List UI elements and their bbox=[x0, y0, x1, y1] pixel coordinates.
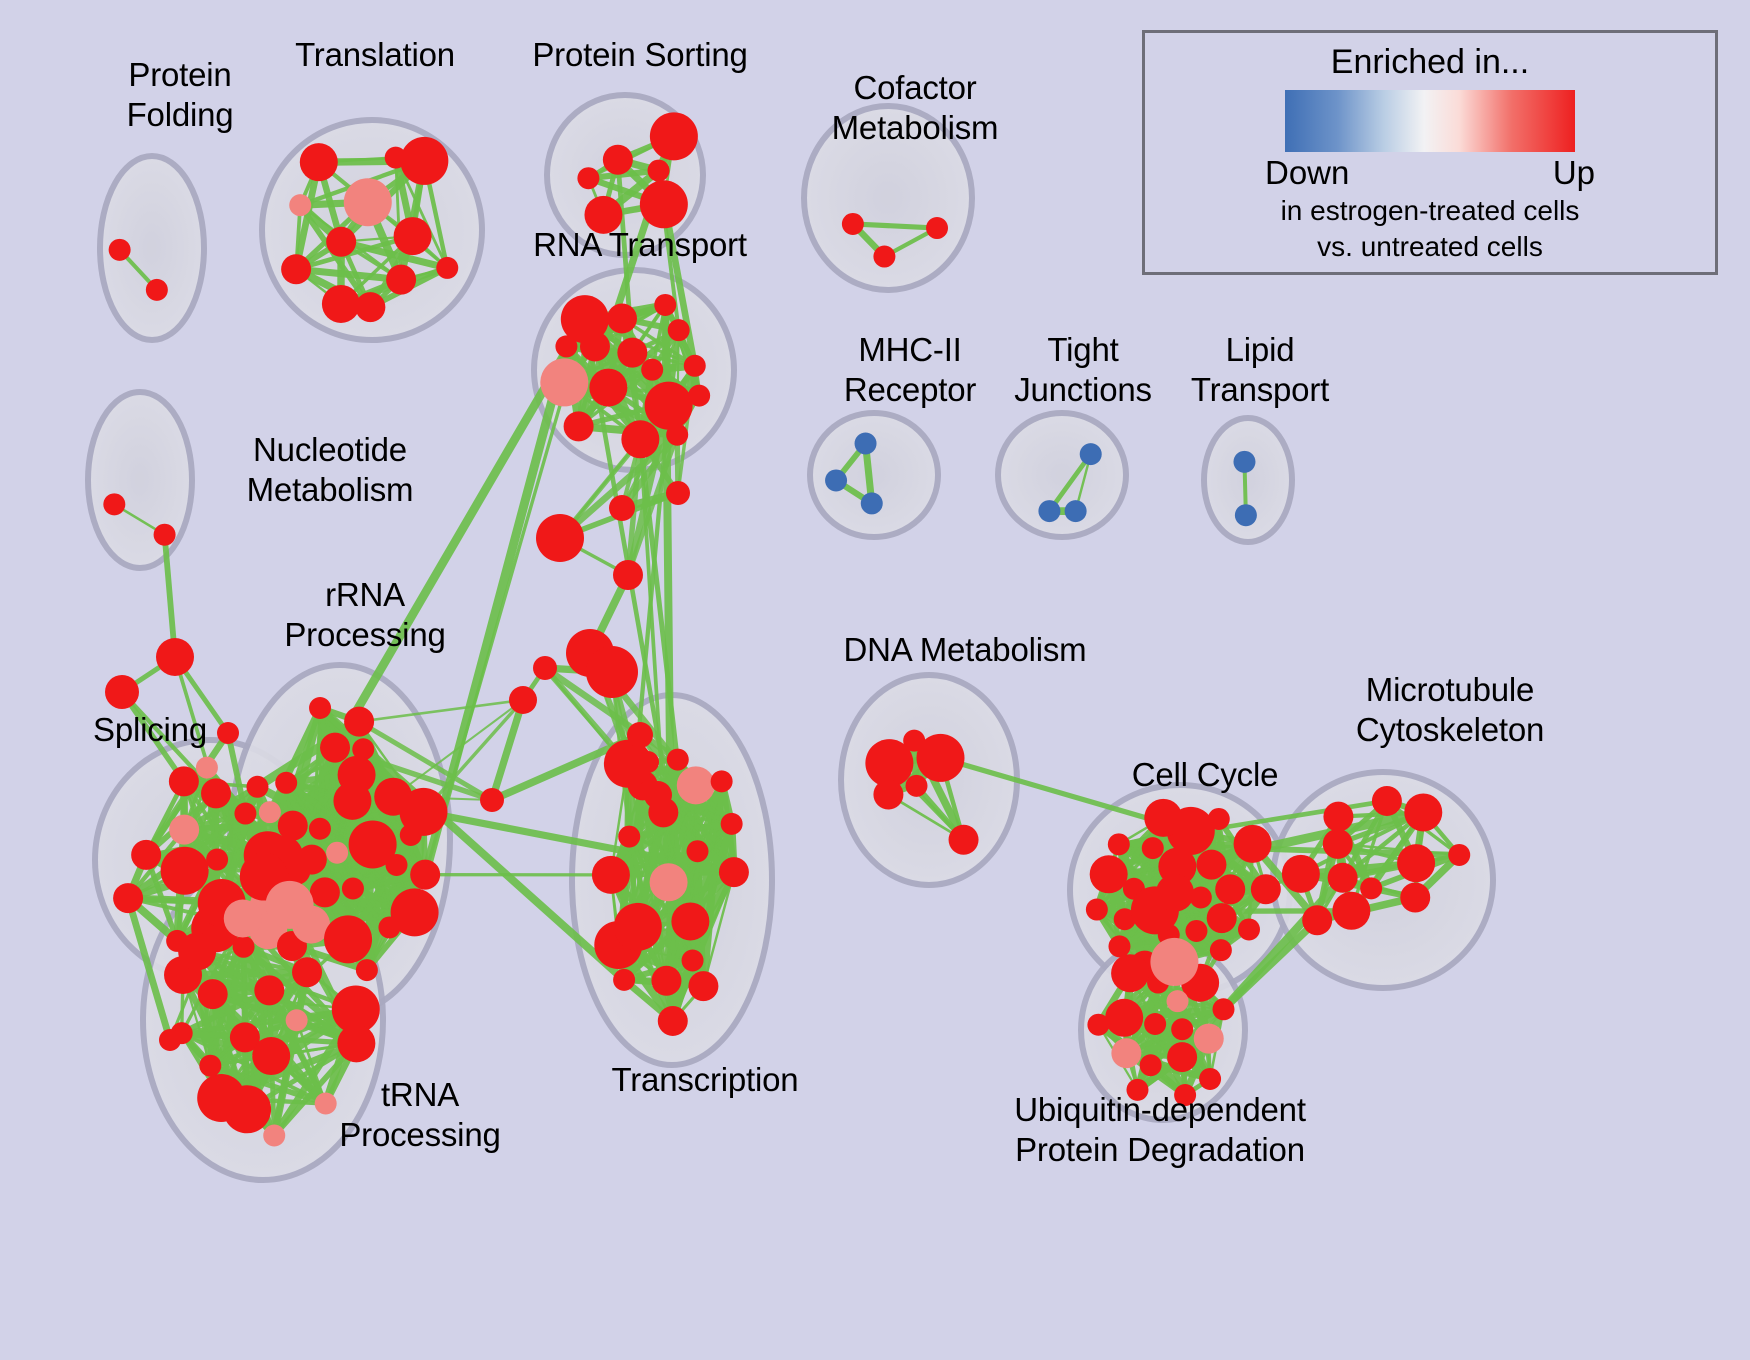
enrichment-network-figure: Protein FoldingTranslationNucleotide Met… bbox=[0, 0, 1750, 1360]
network-node bbox=[169, 815, 199, 845]
cluster-label-trna-processing: tRNA Processing bbox=[300, 1075, 540, 1155]
network-node bbox=[234, 803, 256, 825]
network-node bbox=[645, 382, 693, 430]
network-node bbox=[224, 900, 262, 938]
network-node bbox=[1111, 1038, 1141, 1068]
network-node bbox=[1400, 883, 1430, 913]
network-node bbox=[644, 781, 672, 809]
cluster-label-cofactor-metabolism: Cofactor Metabolism bbox=[790, 68, 1040, 148]
network-node bbox=[342, 877, 364, 899]
network-node bbox=[671, 902, 709, 940]
network-node bbox=[613, 560, 643, 590]
cluster-label-microtubule-cytoskeleton: Microtubule Cytoskeleton bbox=[1300, 670, 1600, 750]
network-node bbox=[586, 646, 638, 698]
network-node bbox=[326, 842, 348, 864]
network-node bbox=[825, 469, 847, 491]
network-node bbox=[861, 492, 883, 514]
network-node bbox=[1167, 990, 1189, 1012]
network-node bbox=[480, 788, 504, 812]
network-node bbox=[320, 733, 350, 763]
network-node bbox=[711, 770, 733, 792]
network-node bbox=[1235, 504, 1257, 526]
network-node bbox=[399, 788, 447, 836]
cluster-label-rna-transport: RNA Transport bbox=[500, 225, 780, 265]
network-node bbox=[1194, 1024, 1224, 1054]
network-node bbox=[196, 757, 218, 779]
network-node bbox=[344, 178, 392, 226]
network-node bbox=[650, 112, 698, 160]
network-node bbox=[667, 749, 689, 771]
network-node bbox=[103, 493, 125, 515]
network-node bbox=[355, 292, 385, 322]
network-node bbox=[385, 854, 407, 876]
network-node bbox=[1038, 500, 1060, 522]
network-node bbox=[555, 335, 577, 357]
network-node bbox=[648, 160, 670, 182]
legend-high-label: Up bbox=[1553, 154, 1595, 192]
network-node bbox=[580, 331, 610, 361]
network-node bbox=[198, 979, 228, 1009]
network-node bbox=[275, 772, 297, 794]
network-node bbox=[278, 811, 308, 841]
network-node bbox=[1150, 938, 1198, 986]
network-node bbox=[651, 966, 681, 996]
network-node bbox=[146, 279, 168, 301]
network-node bbox=[436, 257, 458, 279]
network-node bbox=[677, 766, 715, 804]
network-node bbox=[1111, 954, 1149, 992]
network-node bbox=[668, 319, 690, 341]
legend-endpoints: Down Up bbox=[1265, 154, 1595, 192]
network-node bbox=[1108, 935, 1130, 957]
network-node bbox=[263, 1124, 285, 1146]
network-node bbox=[1238, 918, 1260, 940]
network-node bbox=[246, 776, 268, 798]
network-node bbox=[658, 1006, 688, 1036]
network-node bbox=[607, 303, 637, 333]
network-node bbox=[324, 915, 372, 963]
cluster-label-dna-metabolism: DNA Metabolism bbox=[815, 630, 1115, 670]
network-node bbox=[206, 849, 228, 871]
network-node bbox=[1332, 892, 1370, 930]
network-node bbox=[1404, 793, 1442, 831]
network-node bbox=[159, 1029, 181, 1051]
cluster-blob-nucleotide-metabolism bbox=[88, 392, 192, 568]
network-node bbox=[905, 775, 927, 797]
network-node bbox=[1215, 874, 1245, 904]
cluster-label-rrna-processing: rRNA Processing bbox=[250, 575, 480, 655]
network-node bbox=[949, 825, 979, 855]
network-node bbox=[289, 194, 311, 216]
network-node bbox=[310, 877, 340, 907]
network-node bbox=[1302, 905, 1332, 935]
network-node bbox=[618, 826, 640, 848]
network-node bbox=[322, 285, 360, 323]
network-node bbox=[300, 143, 338, 181]
legend-title: Enriched in... bbox=[1331, 43, 1529, 82]
network-node bbox=[131, 840, 161, 870]
network-node bbox=[391, 888, 439, 936]
network-node bbox=[1212, 998, 1234, 1020]
network-node bbox=[637, 751, 659, 773]
network-node bbox=[1323, 802, 1353, 832]
legend-box: Enriched in... Down Up in estrogen-treat… bbox=[1142, 30, 1718, 275]
network-node bbox=[1086, 899, 1108, 921]
network-node bbox=[1090, 855, 1128, 893]
network-node bbox=[688, 385, 710, 407]
network-node bbox=[259, 801, 281, 823]
network-node bbox=[1234, 825, 1272, 863]
network-node bbox=[926, 217, 948, 239]
network-node bbox=[654, 294, 676, 316]
network-node bbox=[1080, 443, 1102, 465]
network-node bbox=[356, 959, 378, 981]
network-node bbox=[609, 495, 635, 521]
network-node bbox=[577, 167, 599, 189]
network-node bbox=[109, 239, 131, 261]
network-node bbox=[154, 524, 176, 546]
network-node bbox=[233, 936, 255, 958]
cluster-label-translation: Translation bbox=[250, 35, 500, 75]
network-node bbox=[1360, 877, 1382, 899]
network-node bbox=[1108, 833, 1130, 855]
network-node bbox=[400, 137, 448, 185]
network-node bbox=[684, 355, 706, 377]
network-node bbox=[1142, 837, 1164, 859]
network-node bbox=[666, 481, 690, 505]
network-node bbox=[1105, 999, 1143, 1037]
network-node bbox=[621, 420, 659, 458]
network-node bbox=[873, 246, 895, 268]
cluster-label-nucleotide-metabolism: Nucleotide Metabolism bbox=[195, 430, 465, 510]
network-node bbox=[564, 411, 594, 441]
network-node bbox=[614, 903, 662, 951]
network-node bbox=[1372, 786, 1402, 816]
cluster-label-transcription: Transcription bbox=[575, 1060, 835, 1100]
network-node bbox=[916, 734, 964, 782]
network-node bbox=[105, 675, 139, 709]
network-node bbox=[326, 227, 356, 257]
network-node bbox=[281, 254, 311, 284]
network-node bbox=[688, 971, 718, 1001]
network-node bbox=[344, 707, 374, 737]
network-node bbox=[309, 697, 331, 719]
network-node bbox=[1251, 874, 1281, 904]
network-node bbox=[309, 818, 331, 840]
network-node bbox=[603, 145, 633, 175]
network-node bbox=[197, 1074, 245, 1122]
network-node bbox=[536, 514, 584, 562]
cluster-label-protein-sorting: Protein Sorting bbox=[495, 35, 785, 75]
network-node bbox=[1196, 850, 1226, 880]
legend-low-label: Down bbox=[1265, 154, 1349, 192]
network-node bbox=[873, 780, 903, 810]
network-node bbox=[286, 1009, 308, 1031]
network-node bbox=[1171, 1018, 1193, 1040]
network-node bbox=[540, 358, 588, 406]
network-node bbox=[199, 1055, 221, 1077]
network-node bbox=[1199, 1068, 1221, 1090]
network-node bbox=[178, 933, 216, 971]
cluster-blob-dna-metabolism bbox=[841, 675, 1017, 885]
network-node bbox=[201, 778, 231, 808]
network-node bbox=[266, 881, 314, 929]
network-node bbox=[533, 656, 557, 680]
network-node bbox=[1140, 1054, 1162, 1076]
legend-color-bar bbox=[1285, 90, 1575, 152]
network-node bbox=[641, 359, 663, 381]
network-node bbox=[254, 975, 284, 1005]
network-node bbox=[385, 147, 407, 169]
network-node bbox=[338, 756, 376, 794]
network-node bbox=[1185, 920, 1207, 942]
network-node bbox=[721, 813, 743, 835]
network-node bbox=[1323, 829, 1353, 859]
network-node bbox=[1282, 855, 1320, 893]
cluster-blob-tight-junctions bbox=[998, 413, 1126, 537]
network-node bbox=[410, 860, 440, 890]
network-node bbox=[169, 766, 199, 796]
network-node bbox=[855, 432, 877, 454]
network-node bbox=[682, 949, 704, 971]
network-node bbox=[617, 338, 647, 368]
network-node bbox=[719, 857, 749, 887]
network-node bbox=[337, 1024, 375, 1062]
network-node bbox=[1328, 863, 1358, 893]
network-node bbox=[252, 1037, 290, 1075]
network-node bbox=[613, 969, 635, 991]
network-node bbox=[386, 265, 416, 295]
network-node bbox=[686, 840, 708, 862]
network-node bbox=[1144, 799, 1182, 837]
network-node bbox=[1208, 808, 1230, 830]
cluster-label-lipid-transport: Lipid Transport bbox=[1155, 330, 1365, 410]
network-node bbox=[589, 369, 627, 407]
legend-caption-line2: vs. untreated cells bbox=[1317, 230, 1543, 264]
network-node bbox=[1233, 451, 1255, 473]
network-node bbox=[509, 686, 537, 714]
network-node bbox=[1210, 939, 1232, 961]
network-node bbox=[1397, 844, 1435, 882]
cluster-label-ubiquitin-protein-degradation: Ubiquitin-dependent Protein Degradation bbox=[990, 1090, 1330, 1170]
network-node bbox=[1144, 1013, 1166, 1035]
network-node bbox=[1448, 844, 1470, 866]
network-node bbox=[1207, 903, 1237, 933]
legend-caption-line1: in estrogen-treated cells bbox=[1281, 194, 1580, 228]
network-node bbox=[650, 863, 688, 901]
network-node bbox=[292, 957, 322, 987]
network-node bbox=[394, 217, 432, 255]
network-node bbox=[1065, 500, 1087, 522]
network-node bbox=[627, 722, 653, 748]
network-node bbox=[1156, 874, 1194, 912]
network-node bbox=[113, 883, 143, 913]
network-node bbox=[1167, 1042, 1197, 1072]
network-node bbox=[156, 638, 194, 676]
network-node bbox=[161, 847, 209, 895]
network-node bbox=[592, 856, 630, 894]
network-node bbox=[842, 213, 864, 235]
network-node bbox=[297, 845, 327, 875]
cluster-label-cell-cycle: Cell Cycle bbox=[1095, 755, 1315, 795]
cluster-label-splicing: Splicing bbox=[50, 710, 250, 750]
network-node bbox=[640, 180, 688, 228]
